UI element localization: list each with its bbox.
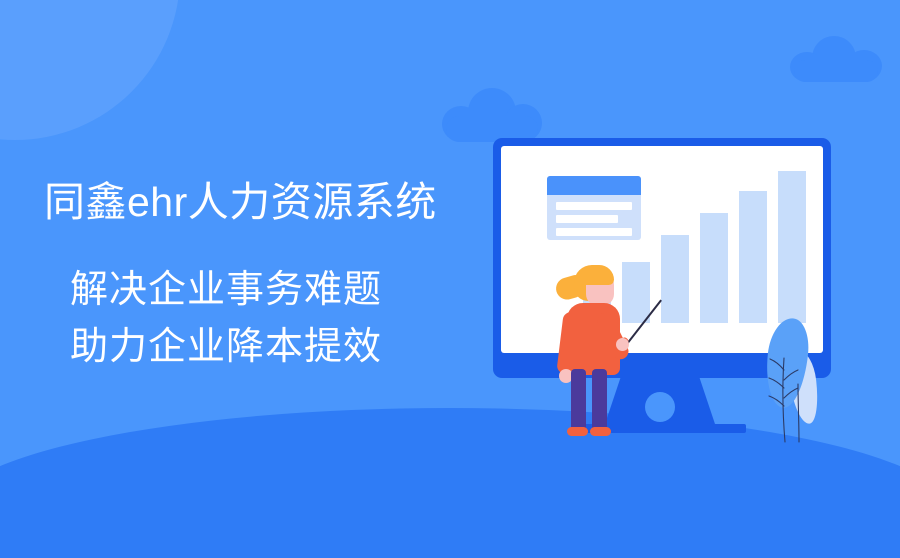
presenter-shoe xyxy=(567,427,588,436)
dashboard-card-row xyxy=(556,215,618,223)
monitor-stand-dot xyxy=(645,392,675,422)
plant-stems-icon xyxy=(755,318,835,443)
chart-bar xyxy=(700,213,728,323)
dashboard-card-header xyxy=(547,176,641,195)
presenter-shoe xyxy=(590,427,611,436)
presenter-figure xyxy=(550,265,636,445)
presenter-leg xyxy=(592,369,607,431)
plant-decoration xyxy=(755,318,835,443)
page-title: 同鑫ehr人力资源系统 xyxy=(44,178,437,226)
chart-bar xyxy=(739,191,767,323)
presenter-hair-top xyxy=(580,265,614,285)
presenter-leg xyxy=(571,369,586,431)
dashboard-card-row xyxy=(556,202,632,210)
dashboard-card-row xyxy=(556,228,632,236)
subtitle-line-2: 助力企业降本提效 xyxy=(70,325,382,369)
illustration xyxy=(455,0,900,558)
promo-banner: 同鑫ehr人力资源系统 解决企业事务难题 助力企业降本提效 xyxy=(0,0,900,558)
chart-bar xyxy=(778,171,806,323)
dashboard-card xyxy=(547,176,641,240)
text-block: 同鑫ehr人力资源系统 解决企业事务难题 助力企业降本提效 xyxy=(0,0,470,558)
presenter-right-hand xyxy=(616,338,629,351)
chart-bar xyxy=(661,235,689,323)
subtitle-line-1: 解决企业事务难题 xyxy=(70,268,382,312)
